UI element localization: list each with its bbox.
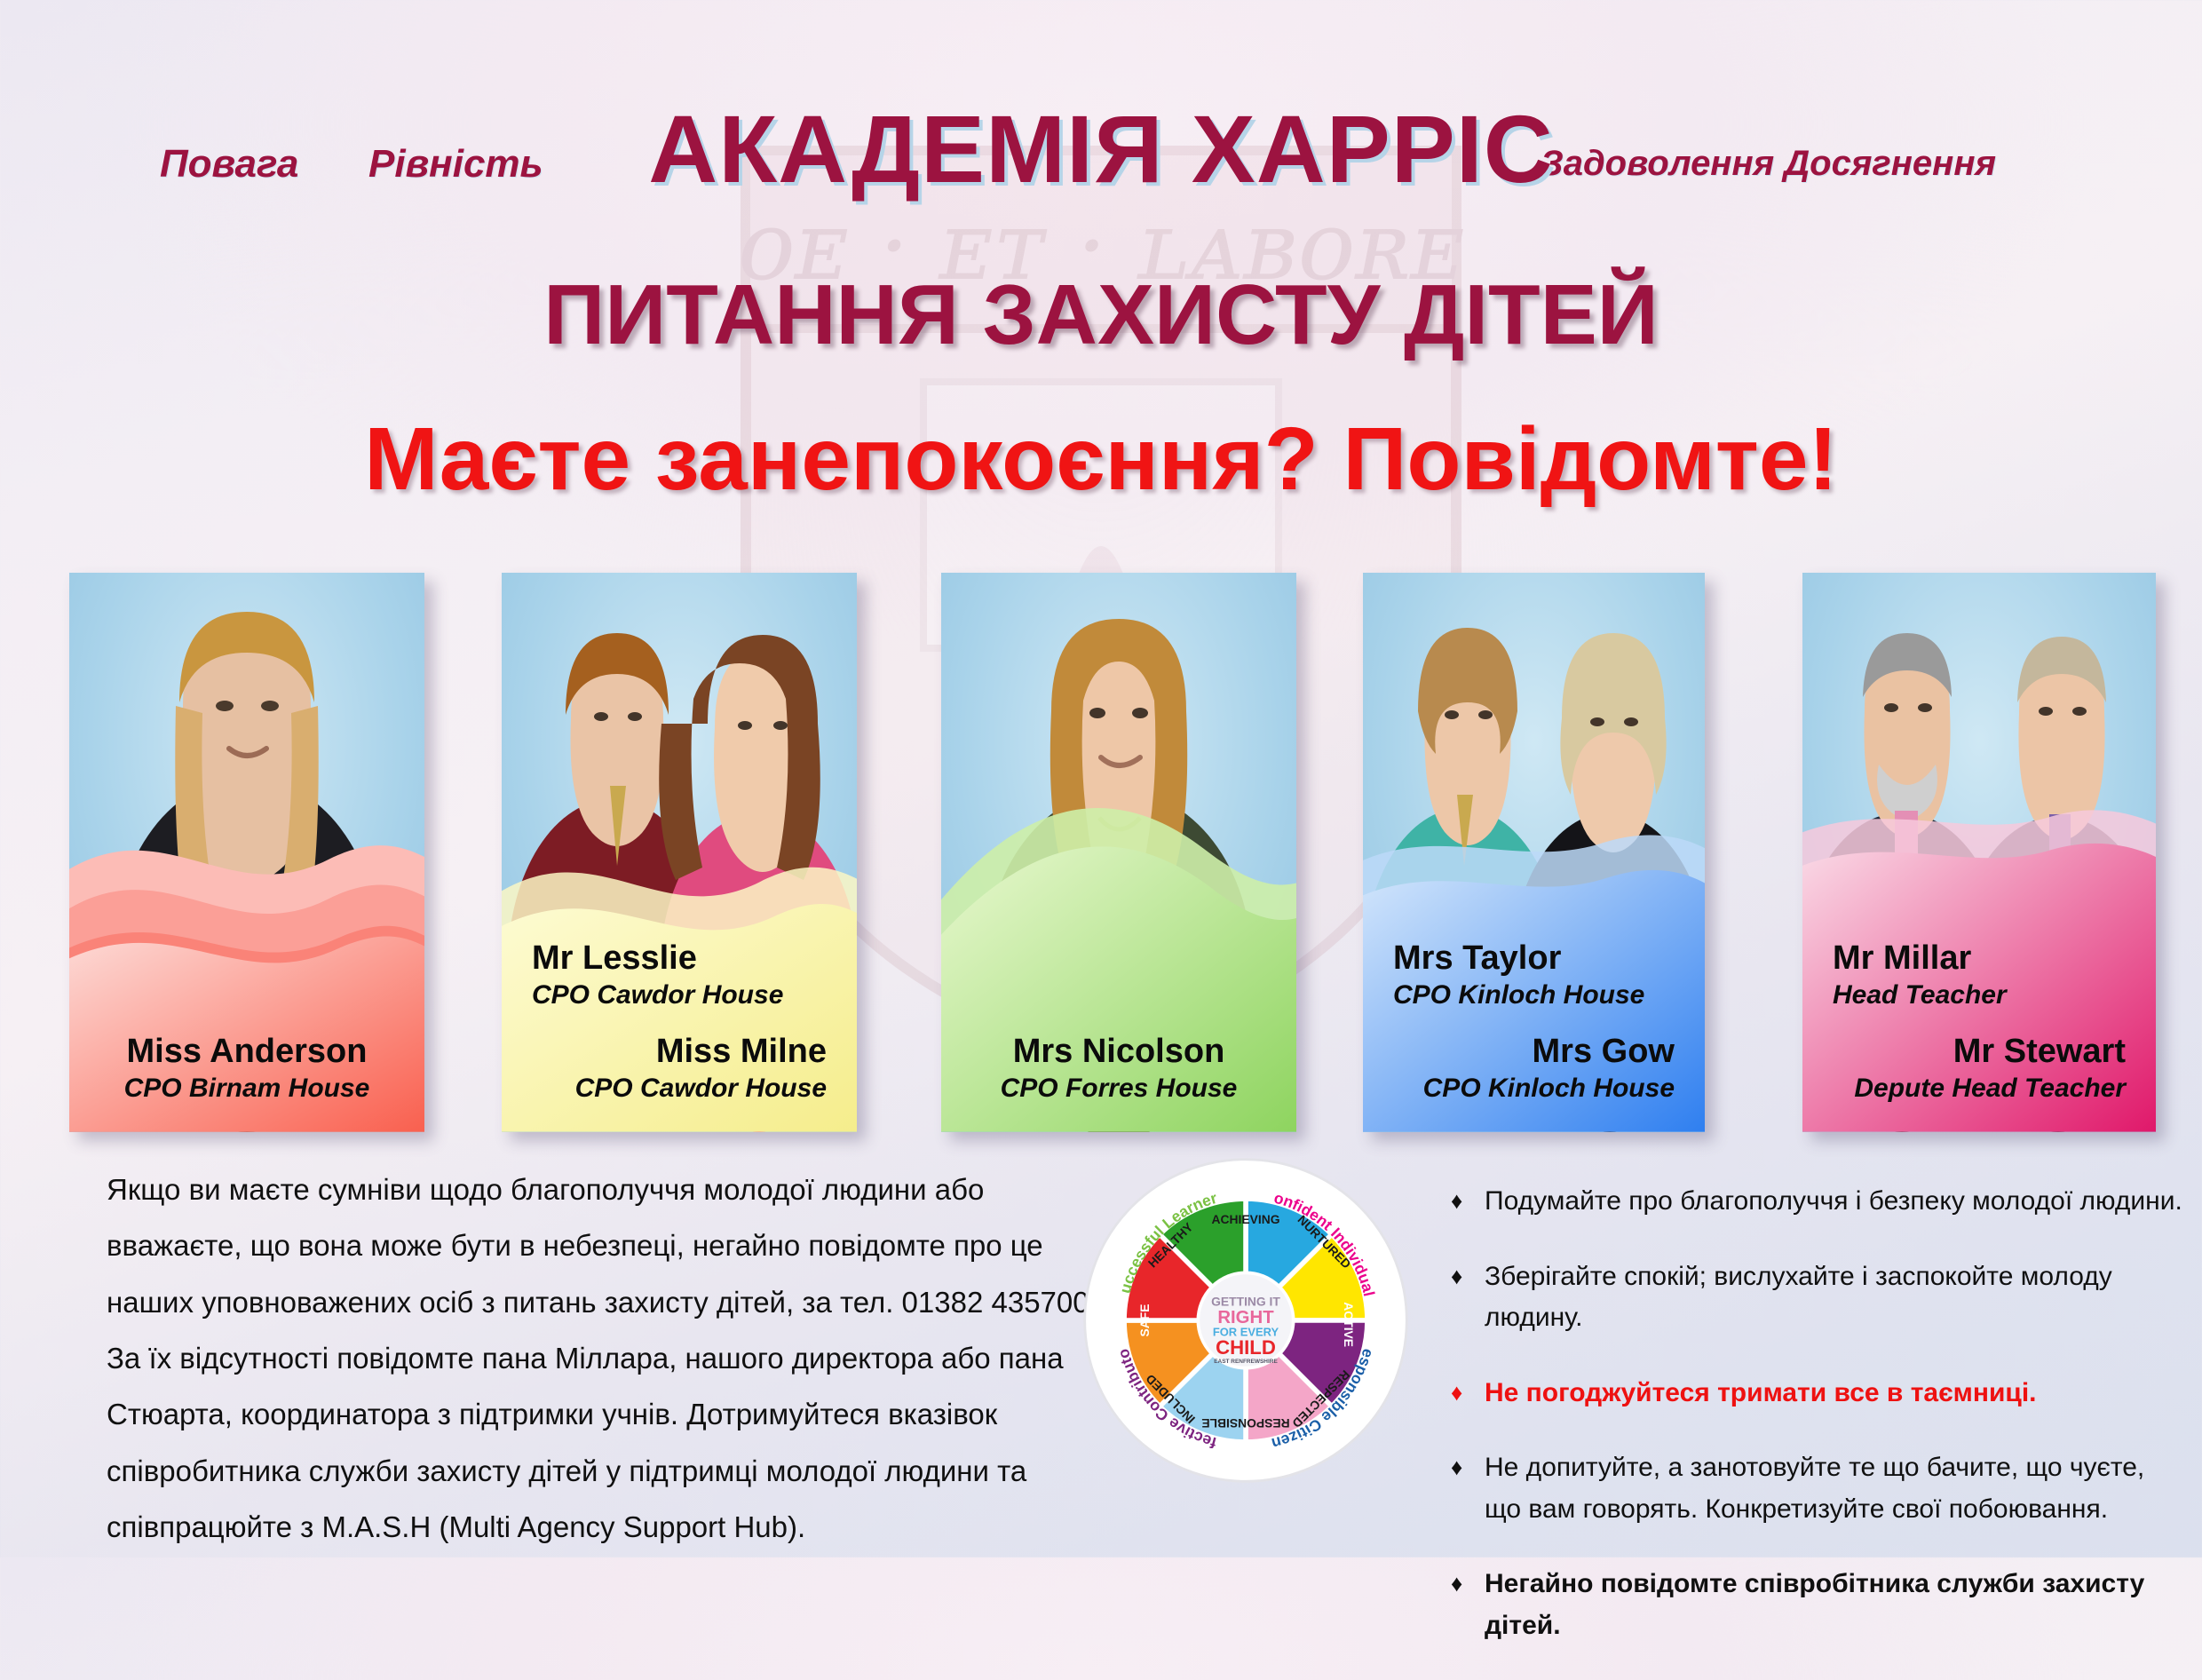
staff-entry: Mrs Taylor CPO Kinloch House <box>1393 939 1675 1012</box>
staff-labels: Mr Lesslie CPO Cawdor House Miss Milne C… <box>502 935 857 1132</box>
staff-role: Depute Head Teacher <box>1833 1071 2126 1105</box>
bullet-diamond-icon: ♦ <box>1451 1449 1462 1485</box>
guidance-paragraph: Якщо ви маєте сумніви щодо благополуччя … <box>107 1161 1101 1556</box>
staff-entry: Miss Anderson CPO Birnam House <box>99 1032 394 1105</box>
staff-entry: Mr Millar Head Teacher <box>1833 939 2126 1012</box>
staff-role: CPO Birnam House <box>99 1071 394 1105</box>
bullet-diamond-icon: ♦ <box>1451 1565 1462 1601</box>
staff-labels: Mrs Taylor CPO Kinloch House Mrs Gow CPO… <box>1363 935 1705 1132</box>
page-subtitle: ПИТАННЯ ЗАХИСТУ ДІТЕЙ <box>0 266 2202 364</box>
staff-role: CPO Cawdor House <box>532 978 827 1012</box>
list-item: ♦ Зберігайте спокій; вислухайте і заспок… <box>1447 1256 2184 1339</box>
segment-label-safe: SAFE <box>1137 1304 1152 1337</box>
staff-labels: Mrs Nicolson CPO Forres House <box>941 1028 1296 1132</box>
wheel-center-line1: GETTING IT <box>1211 1294 1280 1308</box>
staff-role: CPO Kinloch House <box>1393 978 1675 1012</box>
list-item: ♦ Не допитуйте, а занотовуйте те що бачи… <box>1447 1447 2184 1530</box>
action-bullet-list: ♦ Подумайте про благополуччя і безпеку м… <box>1447 1181 2184 1680</box>
bullet-text: Не допитуйте, а занотовуйте те що бачите… <box>1485 1453 2144 1524</box>
staff-name: Mrs Gow <box>1393 1032 1675 1071</box>
staff-entry: Mrs Nicolson CPO Forres House <box>971 1032 1266 1105</box>
staff-labels: Miss Anderson CPO Birnam House <box>69 1028 424 1132</box>
bullet-text: Не погоджуйтеся тримати все в таємниці. <box>1485 1378 2037 1407</box>
staff-name: Mr Lesslie <box>532 939 827 978</box>
staff-card-kinloch: Mrs Taylor CPO Kinloch House Mrs Gow CPO… <box>1363 573 1705 1132</box>
list-item: ♦ Негайно повідомте співробітника служби… <box>1447 1564 2184 1646</box>
bullet-text: Негайно повідомте співробітника служби з… <box>1485 1569 2144 1640</box>
bullet-diamond-icon: ♦ <box>1451 1258 1462 1294</box>
wheel-center-line5: EAST RENFREWSHIRE <box>1214 1359 1278 1365</box>
staff-entry: Mr Lesslie CPO Cawdor House <box>532 939 827 1012</box>
staff-entry: Miss Milne CPO Cawdor House <box>532 1032 827 1105</box>
segment-label-active: ACTIVE <box>1342 1302 1356 1347</box>
staff-role: Head Teacher <box>1833 978 2126 1012</box>
bullet-text: Зберігайте спокій; вислухайте і заспокой… <box>1485 1262 2112 1333</box>
wheel-center-line4: CHILD <box>1216 1336 1276 1359</box>
academy-title: АКАДЕМІЯ ХАРРІС <box>0 93 2202 204</box>
staff-name: Miss Milne <box>532 1032 827 1071</box>
staff-name: Mr Stewart <box>1833 1032 2126 1071</box>
staff-entry: Mrs Gow CPO Kinloch House <box>1393 1032 1675 1105</box>
staff-name: Mrs Taylor <box>1393 939 1675 978</box>
staff-card-forres: Mrs Nicolson CPO Forres House <box>941 573 1296 1132</box>
staff-role: CPO Forres House <box>971 1071 1266 1105</box>
segment-label-responsible: RESPONSIBLE <box>1201 1416 1289 1430</box>
staff-name: Mrs Nicolson <box>971 1032 1266 1071</box>
staff-name: Miss Anderson <box>99 1032 394 1071</box>
wheel-center-line2: RIGHT <box>1217 1308 1274 1327</box>
staff-card-row: Miss Anderson CPO Birnam House <box>0 573 2202 1137</box>
bullet-diamond-icon: ♦ <box>1451 1183 1462 1218</box>
staff-card-birnam: Miss Anderson CPO Birnam House <box>69 573 424 1132</box>
girfec-wheel-logo: ACHIEVING NURTURED ACTIVE RESPECTED RESP… <box>1081 1156 1410 1485</box>
list-item: ♦ Подумайте про благополуччя і безпеку м… <box>1447 1181 2184 1223</box>
staff-card-leadership: Mr Millar Head Teacher Mr Stewart Depute… <box>1802 573 2156 1132</box>
bullet-diamond-icon: ♦ <box>1451 1375 1462 1410</box>
staff-role: CPO Kinloch House <box>1393 1071 1675 1105</box>
staff-labels: Mr Millar Head Teacher Mr Stewart Depute… <box>1802 935 2156 1132</box>
staff-name: Mr Millar <box>1833 939 2126 978</box>
segment-label-achieving: ACHIEVING <box>1211 1212 1279 1226</box>
staff-role: CPO Cawdor House <box>532 1071 827 1105</box>
list-item: ♦ Не погоджуйтеся тримати все в таємниці… <box>1447 1373 2184 1415</box>
staff-entry: Mr Stewart Depute Head Teacher <box>1833 1032 2126 1105</box>
staff-card-cawdor: Mr Lesslie CPO Cawdor House Miss Milne C… <box>502 573 857 1132</box>
bullet-text: Подумайте про благополуччя і безпеку мол… <box>1485 1186 2182 1216</box>
page-tagline: Маєте занепокоєння? Повідомте! <box>0 408 2202 511</box>
